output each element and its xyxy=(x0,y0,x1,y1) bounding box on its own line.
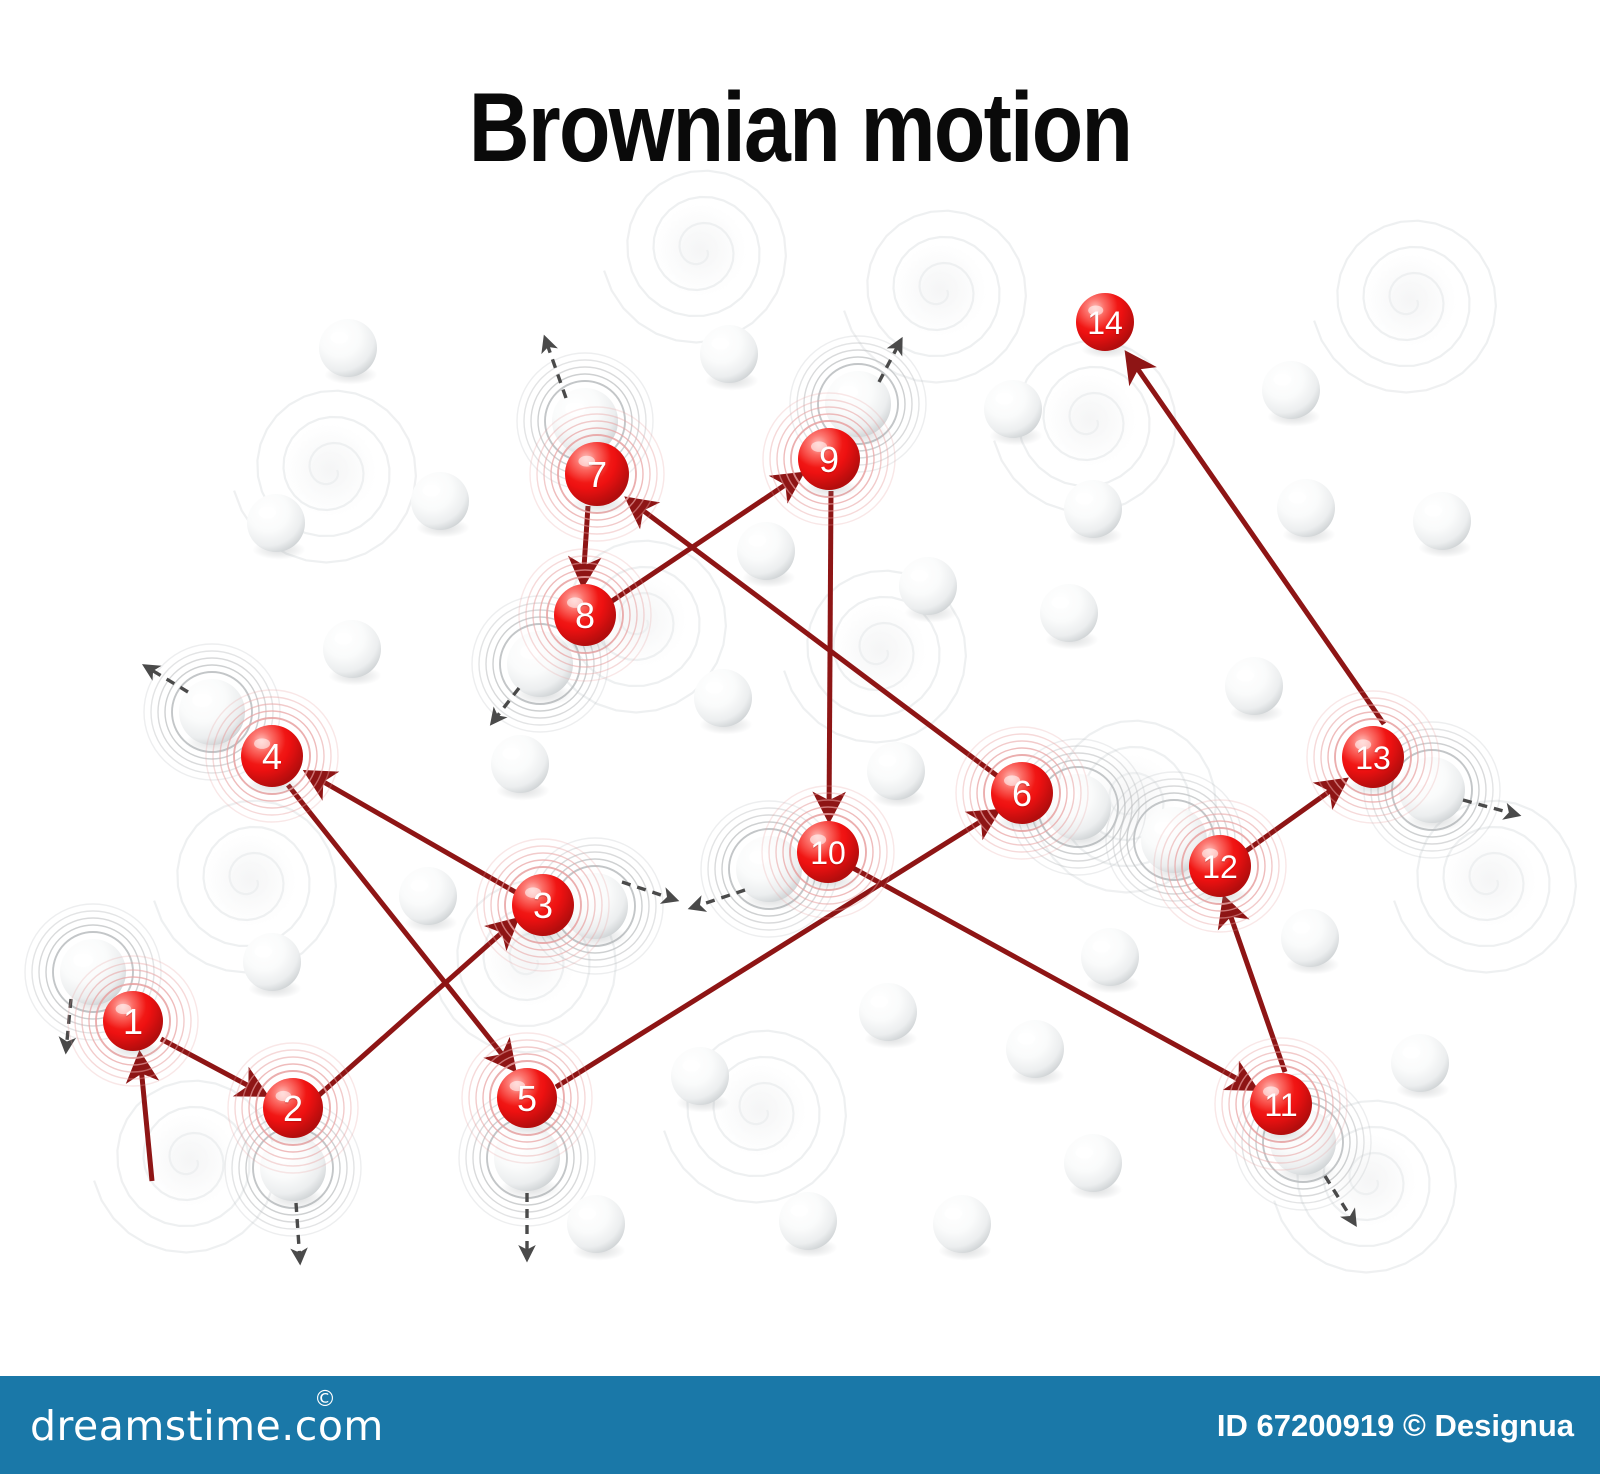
fluid-molecule xyxy=(1006,1020,1065,1086)
watermark-spiral xyxy=(154,801,336,973)
brownian-particle-8 xyxy=(554,584,616,654)
fluid-molecule xyxy=(319,319,378,385)
fluid-molecule xyxy=(694,669,753,735)
fluid-molecule xyxy=(671,1047,730,1113)
fluid-molecule xyxy=(179,679,245,754)
brownian-particle-1 xyxy=(103,991,163,1059)
dreamstime-logo: dreamstime.com © xyxy=(30,1406,384,1447)
watermark-spiral xyxy=(604,171,786,343)
watermark-spiral xyxy=(1314,221,1496,393)
fluid-molecule xyxy=(411,472,470,538)
brownian-particle-12 xyxy=(1189,835,1251,905)
particle-layer xyxy=(68,293,1439,1173)
fluid-molecule xyxy=(867,742,926,808)
image-credit: ID 67200919 © Designua xyxy=(1217,1410,1574,1441)
brownian-particle-13 xyxy=(1342,726,1404,796)
brownian-particle-10 xyxy=(797,821,859,891)
fluid-molecule xyxy=(1281,909,1340,975)
fluid-molecule xyxy=(1064,1134,1123,1200)
fluid-molecule xyxy=(567,1195,626,1261)
recoil-arrow xyxy=(879,340,901,382)
fluid-molecule xyxy=(984,380,1043,446)
fluid-molecule xyxy=(859,983,918,1049)
fluid-molecule xyxy=(247,494,306,560)
brownian-particle-9 xyxy=(798,428,860,498)
brownian-particle-3 xyxy=(512,874,574,944)
fluid-molecule xyxy=(779,1192,838,1258)
fluid-molecule xyxy=(1413,492,1472,558)
recoil-arrow xyxy=(296,1203,300,1262)
brownian-particle-11 xyxy=(1250,1073,1312,1143)
brownian-particle-14 xyxy=(1076,293,1134,358)
fluid-molecule xyxy=(1081,928,1140,994)
scene-canvas xyxy=(0,0,1600,1474)
fluid-molecule xyxy=(399,867,458,933)
fluid-molecule xyxy=(933,1195,992,1261)
recoil-arrow xyxy=(145,666,188,692)
brownian-particle-6 xyxy=(991,762,1053,832)
fluid-molecule xyxy=(491,735,550,801)
fluid-molecule xyxy=(737,522,796,588)
fluid-molecule xyxy=(243,933,302,999)
fluid-molecule xyxy=(1277,479,1336,545)
path-arrow-12-to-13 xyxy=(1246,781,1344,851)
fluid-molecule xyxy=(1262,361,1321,427)
fluid-molecule xyxy=(700,325,759,391)
path-arrow-6-to-7 xyxy=(629,500,1000,778)
path-arrow-11-to-12 xyxy=(1225,900,1285,1072)
fluid-molecule xyxy=(1391,1034,1450,1100)
fluid-molecule xyxy=(1225,657,1284,723)
fluid-molecule xyxy=(1064,480,1123,546)
recoil-arrow xyxy=(691,890,745,908)
brownian-particle-4 xyxy=(241,725,303,795)
fluid-molecule xyxy=(1040,584,1099,650)
brownian-particle-7 xyxy=(565,442,629,514)
fluid-molecule xyxy=(899,557,958,623)
fluid-molecule xyxy=(323,620,382,686)
footer-bar: dreamstime.com © ID 67200919 © Designua xyxy=(0,1376,1600,1474)
registered-mark-icon: © xyxy=(314,1389,337,1411)
brownian-particle-2 xyxy=(263,1078,323,1146)
brownian-particle-5 xyxy=(497,1068,557,1136)
brownian-motion-illustration: Brownian motion xyxy=(0,0,1600,1474)
path-arrow-9-to-10 xyxy=(829,491,831,818)
watermark-spiral xyxy=(844,211,1026,383)
